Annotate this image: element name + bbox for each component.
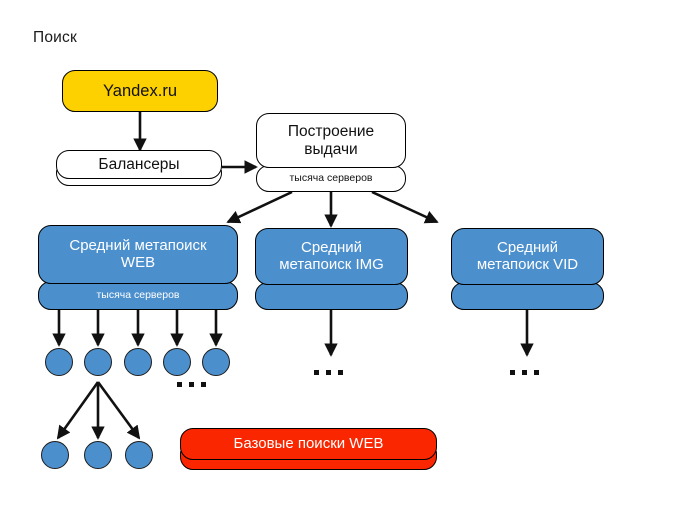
ellipsis-dot: [338, 370, 343, 375]
ellipsis-dot: [201, 382, 206, 387]
ellipsis-img: [314, 370, 343, 375]
node-serp-build-sub-shell: тысяча серверов: [256, 165, 406, 192]
node-yandex[interactable]: Yandex.ru: [62, 70, 218, 112]
ellipsis-dot: [177, 382, 182, 387]
node-web-leaf-3[interactable]: [124, 348, 152, 376]
node-web-leaf-1[interactable]: [45, 348, 73, 376]
node-balancers[interactable]: Балансеры: [56, 150, 222, 186]
node-meta-img-label-line1: Средний: [301, 240, 362, 257]
ellipsis-dot: [189, 382, 194, 387]
edge-node-2-to-child-3: [98, 382, 139, 438]
node-web-leaf-5[interactable]: [202, 348, 230, 376]
node-meta-img-sub-shell: [255, 282, 408, 310]
page-title: Поиск: [33, 29, 77, 47]
edge-serp-to-meta-web: [228, 192, 292, 222]
edge-serp-to-meta-vid: [372, 192, 437, 222]
node-basic-search-web[interactable]: Базовые поиски WEB: [180, 428, 437, 470]
node-meta-img-label: Средний метапоиск IMG: [255, 228, 408, 285]
node-web-subleaf-3[interactable]: [125, 441, 153, 469]
ellipsis-dot: [534, 370, 539, 375]
node-meta-web-label-line1: Средний метапоиск: [69, 238, 206, 255]
ellipsis-dot: [326, 370, 331, 375]
node-serp-build-label-line1: Построение: [288, 123, 374, 140]
node-meta-web-sublabel: тысяча серверов: [96, 290, 179, 301]
ellipsis-dot: [510, 370, 515, 375]
diagram-canvas: Поиск: [0, 0, 700, 525]
ellipsis-vid: [510, 370, 539, 375]
ellipsis-dot: [314, 370, 319, 375]
node-meta-vid[interactable]: Средний метапоиск VID: [451, 228, 604, 310]
node-yandex-label: Yandex.ru: [62, 70, 218, 112]
ellipsis-web: [177, 382, 206, 387]
node-meta-web-label-line2: WEB: [121, 255, 155, 272]
node-serp-build-label: Построение выдачи: [256, 113, 406, 168]
node-meta-vid-label: Средний метапоиск VID: [451, 228, 604, 285]
node-meta-vid-sub-shell: [451, 282, 604, 310]
node-meta-img[interactable]: Средний метапоиск IMG: [255, 228, 408, 310]
node-web-leaf-2[interactable]: [84, 348, 112, 376]
node-basic-search-web-label: Базовые поиски WEB: [180, 428, 437, 460]
node-serp-build[interactable]: тысяча серверов Построение выдачи: [256, 113, 406, 192]
node-meta-web-sub-shell: тысяча серверов: [38, 281, 238, 310]
node-meta-vid-label-line1: Средний: [497, 240, 558, 257]
node-balancers-label: Балансеры: [56, 150, 222, 179]
ellipsis-dot: [522, 370, 527, 375]
edge-node-2-to-child-1: [58, 382, 98, 438]
node-web-subleaf-2[interactable]: [84, 441, 112, 469]
node-meta-web[interactable]: тысяча серверов Средний метапоиск WEB: [38, 225, 238, 310]
node-meta-web-label: Средний метапоиск WEB: [38, 225, 238, 284]
node-meta-vid-label-line2: метапоиск VID: [477, 257, 578, 274]
node-serp-build-sublabel: тысяча серверов: [289, 173, 372, 184]
node-serp-build-label-line2: выдачи: [304, 141, 357, 158]
node-meta-img-label-line2: метапоиск IMG: [279, 257, 384, 274]
node-web-leaf-4[interactable]: [163, 348, 191, 376]
node-web-subleaf-1[interactable]: [41, 441, 69, 469]
